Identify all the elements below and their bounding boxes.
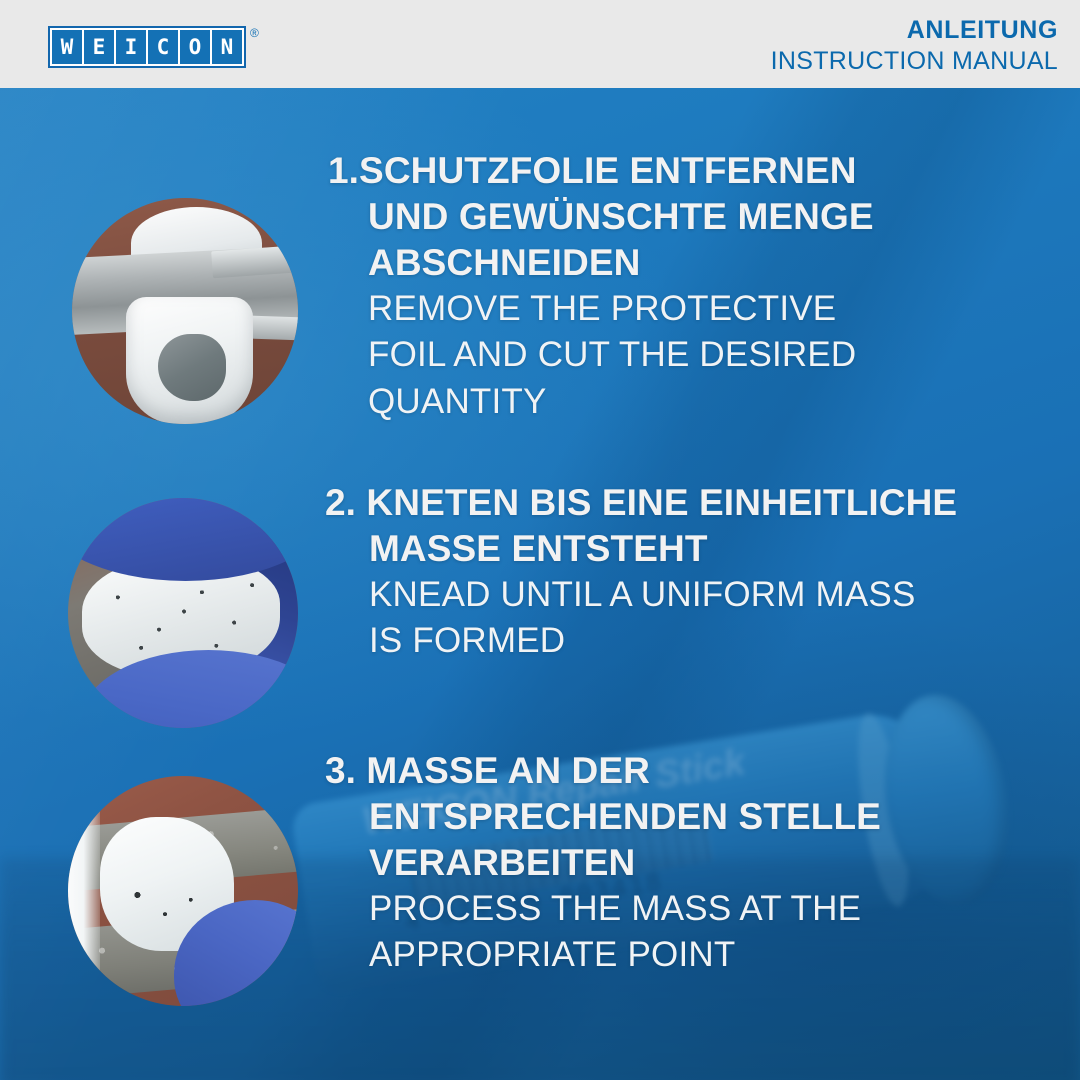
blade-edge xyxy=(211,244,298,278)
step-2-title-en-line-1: KNEAD UNTIL A UNIFORM MASS xyxy=(325,572,1025,619)
white-wall-edge xyxy=(68,776,100,1006)
instruction-manual-page: W E I C O N ® ANLEITUNG INSTRUCTION MANU… xyxy=(0,0,1080,1080)
step-2-title-de-line-1: 2. KNETEN BIS EINE EINHEITLICHE xyxy=(325,480,1025,526)
logo-letter-w: W xyxy=(52,30,82,64)
logo-letter-i: I xyxy=(116,30,146,64)
step-2-title-en-line-2: IS FORMED xyxy=(325,618,1025,665)
step-2-text: 2. KNETEN BIS EINE EINHEITLICHE MASSE EN… xyxy=(325,480,1025,665)
header-titles: ANLEITUNG INSTRUCTION MANUAL xyxy=(771,16,1058,76)
step-3-title-en-line-1: PROCESS THE MASS AT THE xyxy=(325,886,985,933)
logo-letter-e: E xyxy=(84,30,114,64)
photo-3-content xyxy=(68,776,298,1006)
steps-container: 1.SCHUTZFOLIE ENTFERNEN UND GEWÜNSCHTE M… xyxy=(0,88,1080,1080)
header-title-en: INSTRUCTION MANUAL xyxy=(771,47,1058,76)
photo-kneading-putty xyxy=(68,498,298,728)
photo-cutting-putty-stick xyxy=(72,198,298,424)
step-1-title-de-line-3: ABSCHNEIDEN xyxy=(328,240,988,286)
step-1-title-de-line-2: UND GEWÜNSCHTE MENGE xyxy=(328,194,988,240)
step-1-title-en-line-2: FOIL AND CUT THE DESIRED xyxy=(328,332,988,379)
page-header: W E I C O N ® ANLEITUNG INSTRUCTION MANU… xyxy=(0,0,1080,88)
logo-letter-boxes: W E I C O N xyxy=(48,26,246,68)
header-title-de: ANLEITUNG xyxy=(771,16,1058,45)
logo-letter-n: N xyxy=(212,30,242,64)
logo-letter-o: O xyxy=(180,30,210,64)
step-1-title-en-line-1: REMOVE THE PROTECTIVE xyxy=(328,286,988,333)
glove-upper-hand xyxy=(68,498,298,581)
registered-trademark-icon: ® xyxy=(250,27,259,39)
step-1-text: 1.SCHUTZFOLIE ENTFERNEN UND GEWÜNSCHTE M… xyxy=(328,148,988,425)
photo-2-content xyxy=(68,498,298,728)
step-3-title-de-line-3: VERARBEITEN xyxy=(325,840,985,886)
weicon-logo: W E I C O N ® xyxy=(48,26,259,68)
step-3-title-de-line-1: 3. MASSE AN DER xyxy=(325,748,985,794)
photo-1-content xyxy=(72,198,298,424)
step-1-title-en-line-3: QUANTITY xyxy=(328,379,988,426)
putty-stick-core xyxy=(158,334,226,402)
step-3-title-en-line-2: APPROPRIATE POINT xyxy=(325,932,985,979)
photo-applying-putty-brick xyxy=(68,776,298,1006)
logo-letter-c: C xyxy=(148,30,178,64)
step-3-title-de-line-2: ENTSPRECHENDEN STELLE xyxy=(325,794,985,840)
step-2-title-de-line-2: MASSE ENTSTEHT xyxy=(325,526,1025,572)
step-3-text: 3. MASSE AN DER ENTSPRECHENDEN STELLE VE… xyxy=(325,748,985,979)
step-1-title-de-line-1: 1.SCHUTZFOLIE ENTFERNEN xyxy=(328,148,988,194)
